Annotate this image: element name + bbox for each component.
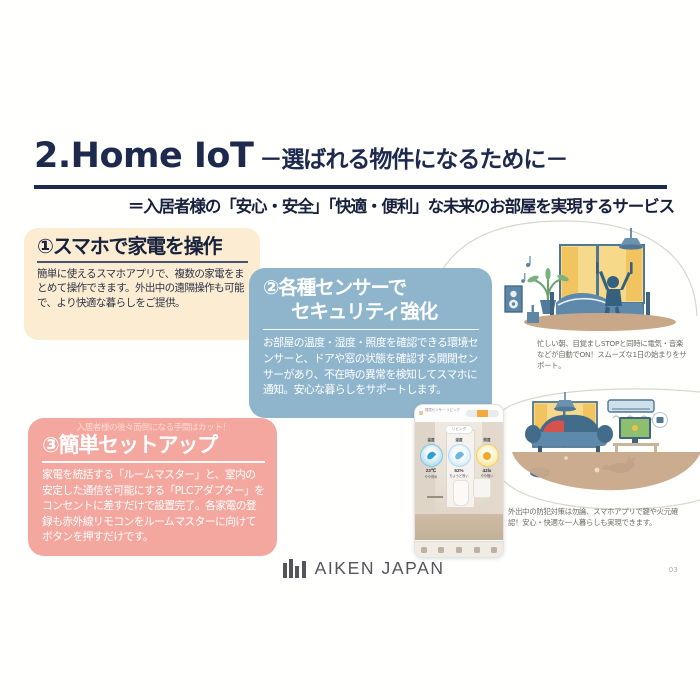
room-sink — [473, 478, 491, 498]
room-floor — [415, 514, 503, 540]
thermometer-drop-icon — [426, 450, 437, 461]
illuminance-gauge-status: やや暗い — [475, 474, 500, 478]
appliance-icon — [527, 305, 539, 323]
building-bars-icon — [283, 559, 306, 578]
temperature-gauge-ring — [420, 444, 443, 467]
illuminance-gauge-ring — [476, 444, 499, 467]
room-rail — [427, 496, 443, 498]
room-label-chip[interactable]: リビング — [445, 425, 473, 434]
feature-box-2-divider — [263, 329, 479, 331]
feature-box-2-heading-line2: セキュリティ強化 — [263, 300, 479, 324]
humidity-gauge-value: 52% — [447, 468, 472, 473]
slide-canvas: 2.Home IoT －選ばれる物件になるために－ ＝入居者様の「安心・安全」「… — [0, 0, 700, 700]
app-header: 環境センサー リビング — [415, 405, 503, 422]
page-number: 03 — [669, 565, 678, 574]
feature-box-1: ①スマホで家電を操作 簡単に使えるスマホアプリで、複数の家電をまとめて操作できま… — [24, 228, 260, 340]
feature-box-2: ②各種センサーで セキュリティ強化 お部屋の温度・湿度・照度を確認できる環境セン… — [249, 268, 492, 418]
humidity-gauge[interactable]: 湿度 52% ちょうど良い — [447, 438, 472, 479]
toggle-option-auto[interactable] — [488, 410, 499, 417]
nav-scenes-icon[interactable] — [474, 547, 480, 553]
title-main-text: 2.Home IoT — [34, 136, 253, 176]
feature-box-2-body: お部屋の温度・湿度・照度を確認できる環境センサーと、ドアや窓の状態を確認する開閉… — [263, 335, 479, 398]
water-drop-icon — [454, 450, 465, 461]
feature-box-1-divider — [37, 261, 248, 263]
nav-devices-icon[interactable] — [438, 547, 444, 553]
toggle-option-off[interactable] — [466, 410, 477, 417]
app-mode-toggle[interactable] — [466, 410, 499, 417]
nav-home-icon[interactable] — [421, 547, 427, 553]
temperature-gauge[interactable]: 温度 23℃ やや低め — [419, 438, 444, 479]
feature-box-2-heading-line1: ②各種センサーで — [263, 276, 479, 300]
living-room-scene-caption: 外出中の防犯対策は勿論、スマホアプリで鍵や火元確認！安心・快適な一人暮らしも実現… — [508, 506, 686, 528]
feature-box-1-body: 簡単に使えるスマホアプリで、複数の家電をまとめて操作できます。外出中の遠隔操作も… — [37, 267, 248, 312]
feature-box-1-heading: ①スマホで家電を操作 — [37, 235, 248, 258]
temperature-gauge-value: 23℃ — [419, 468, 444, 474]
room-fixture — [453, 480, 469, 506]
app-menu-icon[interactable] — [419, 411, 423, 415]
bedroom-illustration — [505, 228, 676, 331]
feature-box-3-heading: ③簡単セットアップ — [42, 434, 265, 457]
app-bottom-nav — [415, 541, 503, 557]
smartphone-app-mockup: 環境センサー リビング リビング 温度 — [414, 404, 504, 558]
nav-settings-icon[interactable] — [491, 547, 497, 553]
toggle-option-on[interactable] — [477, 410, 488, 417]
temperature-gauge-status: やや低め — [419, 475, 444, 479]
feature-box-3-kicker: 入居者様の後々面倒になる手間はカット！ — [42, 423, 265, 433]
feature-box-3: 入居者様の後々面倒になる手間はカット！ ③簡単セットアップ 家電を統括する「ルー… — [28, 418, 277, 556]
app-screen: リビング 温度 23℃ やや低め 湿度 52% ちょうど良い — [415, 422, 503, 540]
humidity-gauge-label: 湿度 — [447, 438, 472, 443]
company-logo: AIKEN JAPAN — [283, 558, 445, 579]
title-divider — [34, 185, 667, 189]
washing-machine-icon — [501, 303, 519, 326]
sensor-gauge-group: 温度 23℃ やや低め 湿度 52% ちょうど良い 照度 — [417, 438, 501, 479]
bedroom-scene-caption: 忙しい朝、目覚ましSTOPと同時に電気・音楽などが自動でON！スムーズな1日の始… — [537, 338, 687, 371]
humidity-gauge-status: ちょうど良い — [447, 474, 472, 478]
illuminance-gauge-label: 照度 — [475, 438, 500, 443]
sun-icon — [483, 452, 491, 460]
app-title: 環境センサー リビング — [425, 408, 460, 413]
humidity-gauge-ring — [448, 444, 471, 467]
title-suffix-text: －選ばれる物件になるために－ — [259, 140, 567, 174]
temperature-gauge-label: 温度 — [419, 438, 444, 443]
illuminance-gauge[interactable]: 照度 42lx やや暗い — [475, 438, 500, 479]
illuminance-gauge-value: 42lx — [475, 468, 500, 473]
feature-box-3-divider — [42, 461, 265, 463]
page-title: 2.Home IoT －選ばれる物件になるために－ — [34, 136, 670, 176]
nav-sensors-icon[interactable] — [456, 547, 462, 553]
page-subtitle: ＝入居者様の「安心・安全」「快適・便利」な未来のお部屋を実現するサービス — [34, 193, 674, 217]
arc-bottom-decoration — [487, 389, 700, 509]
company-logo-text: AIKEN JAPAN — [315, 558, 445, 579]
living-room-illustration — [504, 392, 700, 490]
feature-box-3-body: 家電を統括する「ルームマスター」と、室内の安定した通信を可能にする「PLCアダプ… — [42, 467, 265, 545]
